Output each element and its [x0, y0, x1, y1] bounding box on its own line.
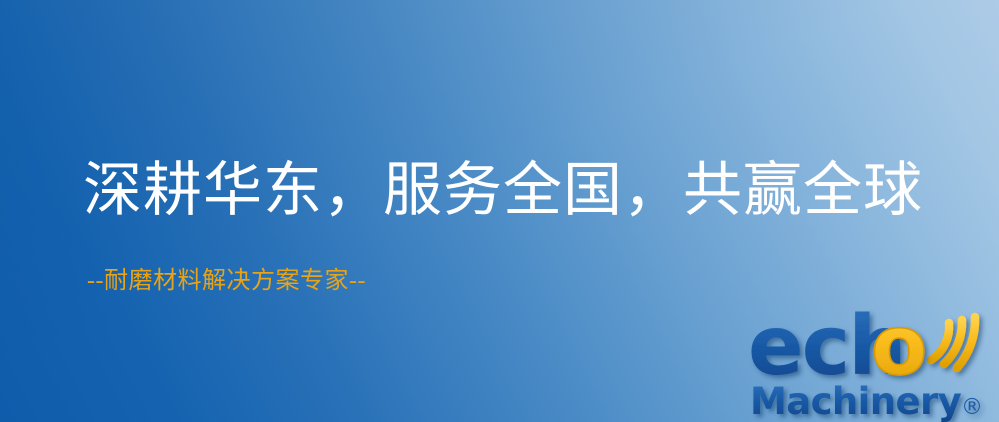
banner-headline: 深耕华东，服务全国，共赢全球 [83, 154, 923, 226]
logo-graphic: ech o Machinery ® [748, 298, 999, 422]
logo-registered-trademark-icon: ® [961, 395, 983, 420]
echo-waves-icon [931, 317, 975, 368]
promo-banner: 深耕华东，服务全国，共赢全球 --耐磨材料解决方案专家-- [0, 0, 999, 422]
logo-machinery-text: Machinery [750, 380, 962, 422]
banner-subtitle: --耐磨材料解决方案专家-- [87, 266, 366, 296]
echo-machinery-logo: ech o Machinery ® [748, 298, 999, 422]
